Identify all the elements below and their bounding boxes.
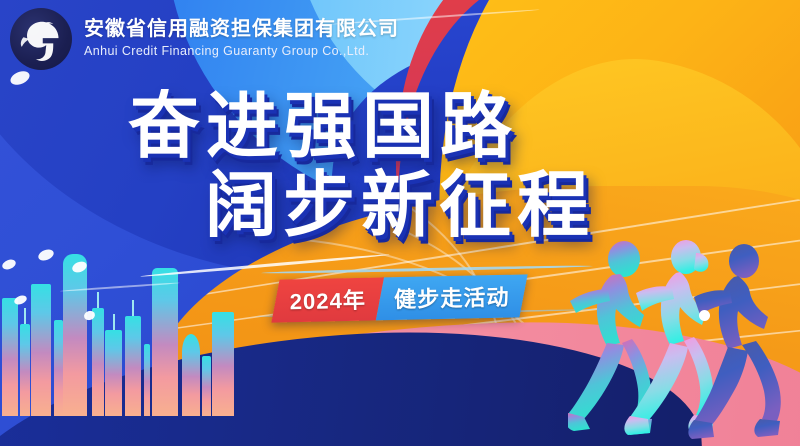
promotional-banner: 安徽省信用融资担保集团有限公司 Anhui Credit Financing G… [0, 0, 800, 446]
building [144, 344, 150, 416]
badge-year-segment: 2024年 [271, 277, 384, 322]
anhui-guaranty-g-logo-icon [10, 8, 72, 70]
brand-header: 安徽省信用融资担保集团有限公司 Anhui Credit Financing G… [0, 8, 399, 70]
runner-silhouette-middle [624, 240, 714, 435]
city-skyline-icon [0, 226, 230, 416]
brand-name-en: Anhui Credit Financing Guaranty Group Co… [84, 43, 399, 59]
three-runners-icon [568, 231, 798, 446]
main-title: 奋进强国路 阔步新征程 [0, 92, 700, 241]
building [152, 268, 178, 416]
highlight-dot [699, 310, 710, 321]
event-badge: 2024年 健步走活动 [271, 274, 527, 322]
building [125, 316, 141, 416]
building [202, 356, 211, 416]
brand-name-cn: 安徽省信用融资担保集团有限公司 [84, 18, 399, 41]
building [20, 324, 30, 416]
badge-year-label: 2024年 [289, 283, 366, 316]
title-line-1: 奋进强国路 [128, 92, 700, 163]
building [31, 284, 51, 416]
badge-activity-label: 健步走活动 [394, 280, 510, 314]
building [182, 334, 200, 416]
building [92, 308, 104, 416]
building [212, 312, 234, 416]
building [2, 298, 18, 416]
runner-silhouette-right [688, 244, 780, 439]
building [63, 254, 87, 416]
building [105, 330, 122, 416]
badge-activity-segment: 健步走活动 [376, 274, 528, 320]
building [54, 320, 63, 416]
brand-text-block: 安徽省信用融资担保集团有限公司 Anhui Credit Financing G… [84, 18, 399, 59]
